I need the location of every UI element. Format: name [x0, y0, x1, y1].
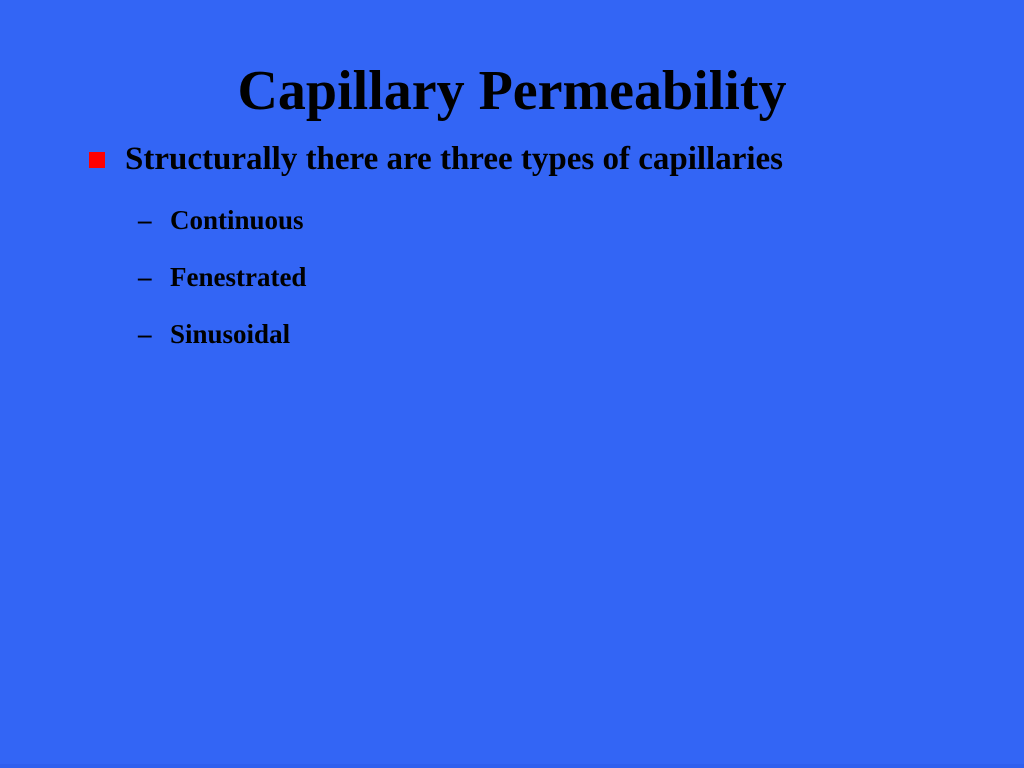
bullet-level1-label: Structurally there are three types of ca…	[125, 136, 837, 183]
bullet-level2-label-fenestrated: Fenestrated	[170, 259, 306, 295]
sub-bullet-list: – Continuous – Fenestrated – Sinusoidal	[84, 202, 954, 373]
square-bullet-icon	[89, 152, 105, 168]
bullet-level2-label-sinusoidal: Sinusoidal	[170, 316, 290, 352]
dash-bullet-icon: –	[138, 202, 152, 238]
presentation-slide: Capillary Permeability Structurally ther…	[0, 0, 1024, 768]
bullet-item-continuous: – Continuous	[84, 202, 954, 259]
dash-bullet-icon: –	[138, 259, 152, 295]
slide-title: Capillary Permeability	[0, 60, 1024, 123]
bullet-level2-label-continuous: Continuous	[170, 202, 304, 238]
dash-bullet-icon: –	[138, 316, 152, 352]
slide-body-content: Structurally there are three types of ca…	[84, 136, 954, 373]
bullet-item-level1: Structurally there are three types of ca…	[84, 136, 954, 183]
bullet-item-fenestrated: – Fenestrated	[84, 259, 954, 316]
slide-bottom-edge	[0, 764, 1024, 768]
bullet-item-sinusoidal: – Sinusoidal	[84, 316, 954, 373]
